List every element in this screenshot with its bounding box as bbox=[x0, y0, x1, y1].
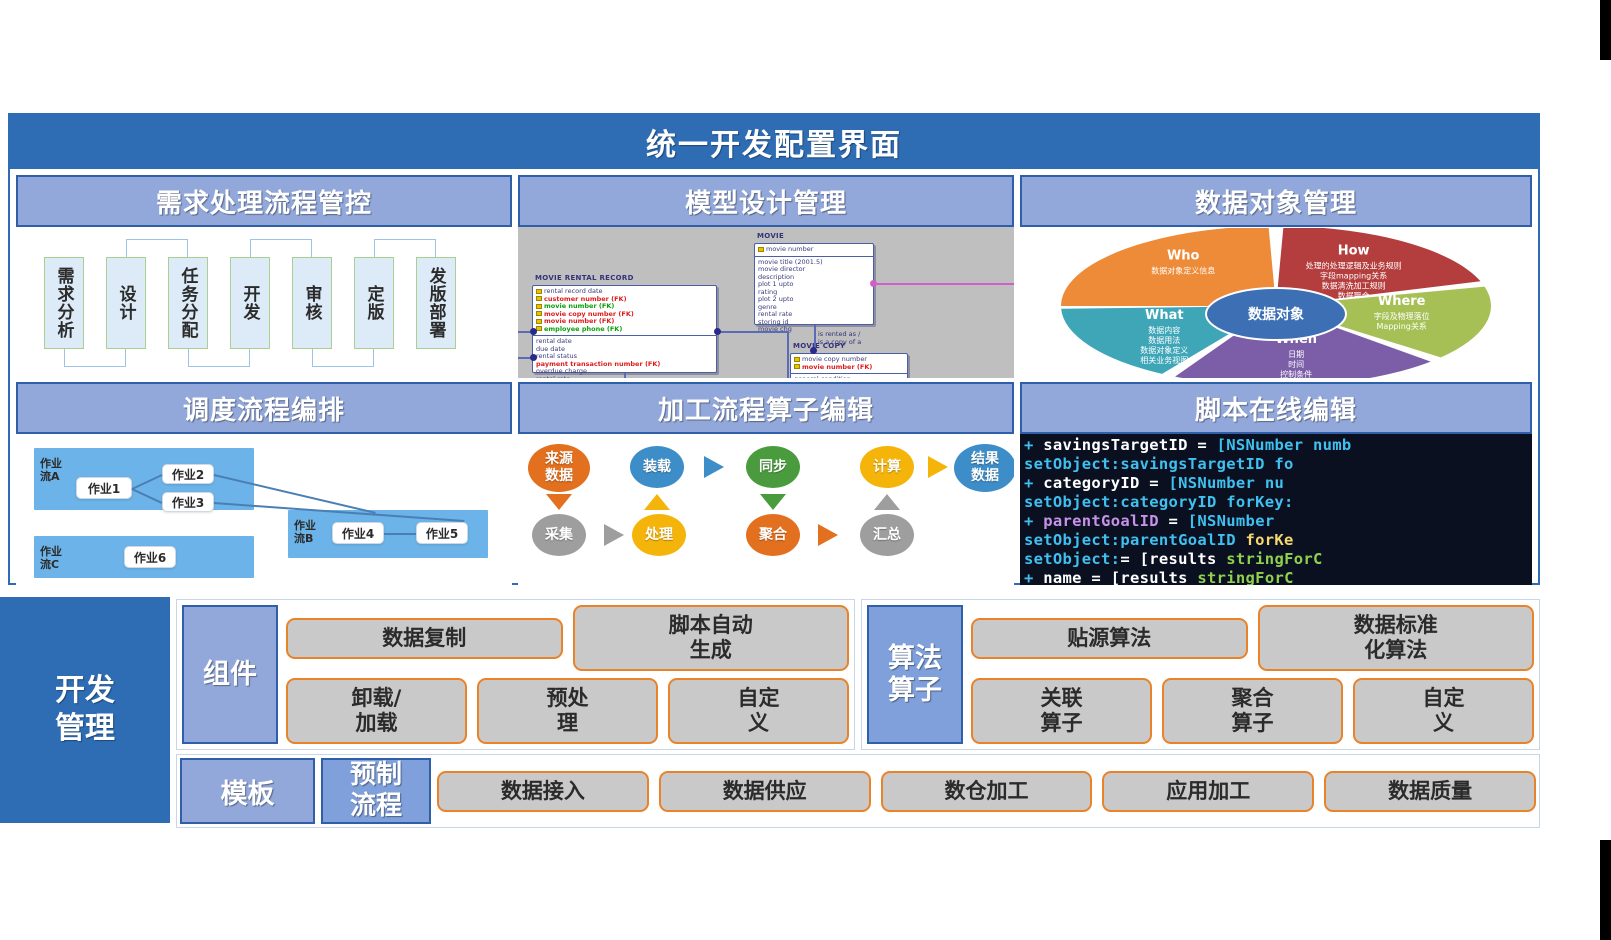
panel-dataobject-header: 数据对象管理 bbox=[1020, 175, 1532, 227]
dev-chip[interactable]: 数据标准化算法 bbox=[1258, 605, 1535, 671]
code-token: + bbox=[1024, 474, 1043, 492]
requirement-connector-up-2 bbox=[250, 239, 312, 257]
code-token: = bbox=[1159, 512, 1188, 530]
preflow-group-label: 预制流程 bbox=[321, 758, 431, 824]
code-token: [NSNumber numb bbox=[1217, 436, 1352, 454]
template-group-label: 模板 bbox=[180, 758, 315, 824]
code-line: + savingsTargetID = [NSNumber numb bbox=[1024, 436, 1532, 455]
dev-group-label[interactable]: 组件 bbox=[182, 605, 278, 744]
pie-chart-svg: Who数据对象定义信息How处理的处理逻辑及业务规则字段mapping关系数据清… bbox=[1041, 228, 1511, 378]
panel-model[interactable]: 模型设计管理 MOVIE RENTAL RECORDrental record … bbox=[518, 175, 1014, 378]
dev-chip[interactable]: 自定义 bbox=[668, 678, 849, 744]
dev-chip[interactable]: 贴源算法 bbox=[971, 618, 1248, 659]
operator-flow-diagram[interactable]: 来源数据装载同步计算结果数据采集处理聚合汇总 bbox=[518, 434, 1014, 585]
requirement-step-2[interactable]: 设计 bbox=[106, 257, 146, 349]
panel-requirement[interactable]: 需求处理流程管控 需求分析设计任务分配开发审核定版发版部署 bbox=[16, 175, 512, 378]
pie-segment-key-how: How bbox=[1338, 243, 1370, 258]
er-entity-3[interactable]: MOVIE COPYmovie copy numbermovie number … bbox=[790, 353, 908, 378]
panel-script[interactable]: 脚本在线编辑 + savingsTargetID = [NSNumber num… bbox=[1020, 382, 1532, 585]
dev-chip[interactable]: 自定义 bbox=[1353, 678, 1534, 744]
code-token: [NSNumber bbox=[1188, 512, 1275, 530]
operator-node-2[interactable]: 装载 bbox=[630, 446, 684, 488]
panel-model-body: MOVIE RENTAL RECORDrental record datecus… bbox=[518, 227, 1014, 378]
job-node[interactable]: 作业2 bbox=[162, 464, 214, 484]
key-icon bbox=[536, 289, 542, 294]
preflow-chip-row: 数据接入数据供应数仓加工应用加工数据质量 bbox=[437, 771, 1536, 812]
code-token: = bbox=[1140, 474, 1169, 492]
panel-row-1: 需求处理流程管控 需求分析设计任务分配开发审核定版发版部署 模型设计管理 MOV… bbox=[16, 175, 1532, 378]
code-line: setObject:savingsTargetID fo bbox=[1024, 455, 1532, 474]
panel-script-body: + savingsTargetID = [NSNumber numbsetObj… bbox=[1020, 434, 1532, 585]
requirement-connector-down-2 bbox=[188, 349, 250, 367]
arrow-load-to-sync bbox=[704, 456, 724, 478]
preflow-chip[interactable]: 数据质量 bbox=[1324, 771, 1536, 812]
code-token: parentGoalID bbox=[1043, 512, 1159, 530]
dev-chip[interactable]: 聚合算子 bbox=[1162, 678, 1343, 744]
job-node[interactable]: 作业6 bbox=[124, 546, 176, 568]
er-entity-keys: rental record datecustomer number (FK)mo… bbox=[533, 286, 716, 336]
panel-schedule[interactable]: 调度流程编排 作业流A作业1作业2作业3作业流B作业4作业5作业流C作业6 bbox=[16, 382, 512, 585]
schedule-flow-diagram[interactable]: 作业流A作业1作业2作业3作业流B作业4作业5作业流C作业6 bbox=[16, 434, 512, 585]
operator-node-1[interactable]: 来源数据 bbox=[528, 444, 590, 492]
er-relationship-endpoint bbox=[714, 328, 721, 335]
page-edge-top bbox=[1600, 0, 1611, 60]
dev-group-chips: 贴源算法数据标准化算法关联算子聚合算子自定义 bbox=[971, 605, 1534, 744]
pie-segment-detail: 字段mapping关系 bbox=[1320, 270, 1387, 280]
code-line: + parentGoalID = [NSNumber bbox=[1024, 512, 1532, 531]
panel-requirement-body: 需求分析设计任务分配开发审核定版发版部署 bbox=[16, 227, 512, 378]
key-icon bbox=[536, 319, 542, 324]
panel-dataobject-body: Who数据对象定义信息How处理的处理逻辑及业务规则字段mapping关系数据清… bbox=[1020, 227, 1532, 378]
code-token: setObject:categoryID forKey: bbox=[1024, 493, 1294, 511]
pie-segment-detail: Mapping关系 bbox=[1377, 321, 1427, 331]
key-icon bbox=[794, 357, 800, 362]
pie-segment-detail: 数据清洗加工规则 bbox=[1322, 280, 1386, 290]
er-diagram[interactable]: MOVIE RENTAL RECORDrental record datecus… bbox=[518, 227, 1014, 378]
pie-segment-detail: 时间 bbox=[1288, 358, 1304, 368]
key-icon bbox=[758, 247, 764, 252]
operator-node-6[interactable]: 采集 bbox=[532, 514, 586, 556]
arrow-aggregate-to-summary bbox=[818, 524, 838, 546]
code-token: + bbox=[1024, 436, 1043, 454]
dev-chip[interactable]: 数据复制 bbox=[286, 618, 563, 659]
code-token: forKe bbox=[1246, 531, 1294, 549]
dev-management-sidebar-label: 开发管理 bbox=[0, 597, 170, 823]
arrow-sync-to-aggregate bbox=[760, 494, 786, 510]
er-relationship-line bbox=[717, 331, 789, 333]
code-token: + bbox=[1024, 569, 1043, 585]
code-token: = [results bbox=[1120, 550, 1226, 568]
er-key-line: movie number bbox=[758, 246, 870, 254]
dev-chip-row: 卸载/加载预处理自定义 bbox=[286, 678, 849, 744]
er-entity-keys: movie number bbox=[755, 244, 873, 257]
er-entity-2[interactable]: MOVIEmovie numbermovie title (2001.5)mov… bbox=[754, 243, 874, 325]
operator-node-9[interactable]: 汇总 bbox=[860, 514, 914, 556]
pie-segment-detail: 数据用法 bbox=[1148, 334, 1180, 344]
dev-chip-row: 贴源算法数据标准化算法 bbox=[971, 605, 1534, 671]
panel-schedule-header: 调度流程编排 bbox=[16, 382, 512, 434]
job-node[interactable]: 作业1 bbox=[76, 477, 132, 499]
template-row: 模板 预制流程 数据接入数据供应数仓加工应用加工数据质量 bbox=[176, 754, 1540, 828]
code-token: [NSNumber nu bbox=[1169, 474, 1285, 492]
requirement-connector-down-3 bbox=[312, 349, 374, 367]
code-token: setObject:savingsTargetID fo bbox=[1024, 455, 1294, 473]
pie-segment-detail: 控制条件 bbox=[1280, 368, 1312, 377]
key-icon bbox=[536, 296, 542, 301]
panel-operator[interactable]: 加工流程算子编辑 来源数据装载同步计算结果数据采集处理聚合汇总 bbox=[518, 382, 1014, 585]
er-entity-attributes: movie title (2001.5)movie directordescri… bbox=[755, 257, 873, 336]
panel-grid: 需求处理流程管控 需求分析设计任务分配开发审核定版发版部署 模型设计管理 MOV… bbox=[10, 169, 1538, 583]
pie-segment-detail: 数据对象定义 bbox=[1140, 344, 1188, 354]
er-entity-attributes: general conditionmovie format bbox=[791, 374, 907, 378]
code-token: stringForC bbox=[1197, 569, 1293, 585]
arrow-process-to-load bbox=[644, 494, 670, 510]
key-icon bbox=[536, 304, 542, 309]
dev-group-chips: 数据复制脚本自动生成卸载/加载预处理自定义 bbox=[286, 605, 849, 744]
code-token: + bbox=[1024, 512, 1043, 530]
requirement-step-6[interactable]: 定版 bbox=[354, 257, 394, 349]
requirement-step-5[interactable]: 审核 bbox=[292, 257, 332, 349]
pie-center-label: 数据对象 bbox=[1248, 306, 1304, 323]
code-token: = bbox=[1188, 436, 1217, 454]
requirement-step-4[interactable]: 开发 bbox=[230, 257, 270, 349]
code-line: setObject:parentGoalID forKe bbox=[1024, 531, 1532, 550]
er-relationship-endpoint bbox=[810, 347, 817, 354]
job-flow-lane-label: 作业流A bbox=[40, 457, 62, 483]
job-flow-lane-1[interactable]: 作业流A作业1作业2作业3 bbox=[34, 448, 254, 510]
er-entity-attributes: rental datedue daterental statuspayment … bbox=[533, 336, 716, 378]
arrow-source-to-collect bbox=[546, 494, 572, 510]
dev-group-label[interactable]: 算法算子 bbox=[867, 605, 963, 744]
er-relationship-line bbox=[874, 283, 1014, 285]
dev-chip[interactable]: 关联算子 bbox=[971, 678, 1152, 744]
preflow-chip-list: 数据接入数据供应数仓加工应用加工数据质量 bbox=[437, 758, 1536, 824]
panel-operator-header: 加工流程算子编辑 bbox=[518, 382, 1014, 434]
code-token: savingsTargetID bbox=[1043, 436, 1187, 454]
panel-dataobject[interactable]: 数据对象管理 Who数据对象定义信息How处理的处理逻辑及业务规则字段mappi… bbox=[1020, 175, 1532, 378]
pie-segment-detail: 数据对象定义信息 bbox=[1151, 265, 1215, 275]
er-relationship-line bbox=[624, 373, 626, 378]
er-key-line: employee phone (FK) bbox=[536, 326, 713, 334]
er-relationship-endpoint bbox=[530, 354, 537, 361]
operator-node-8[interactable]: 聚合 bbox=[746, 514, 800, 556]
job-node[interactable]: 作业4 bbox=[332, 522, 384, 544]
job-node[interactable]: 作业5 bbox=[416, 522, 468, 544]
operator-node-7[interactable]: 处理 bbox=[632, 514, 686, 556]
code-line: + name = [results stringForC bbox=[1024, 569, 1532, 585]
arrow-calc-to-result bbox=[928, 456, 948, 478]
requirement-connector-up-1 bbox=[126, 239, 188, 257]
pie-segment-key-who: Who bbox=[1167, 248, 1200, 263]
panel-script-header: 脚本在线编辑 bbox=[1020, 382, 1532, 434]
requirement-step-7[interactable]: 发版部署 bbox=[416, 257, 456, 349]
pie-segment-key-what: What bbox=[1145, 307, 1184, 322]
job-link-4-5 bbox=[384, 533, 416, 535]
requirement-connector-up-3 bbox=[374, 239, 436, 257]
preflow-chip[interactable]: 数据供应 bbox=[659, 771, 871, 812]
pie-segment-detail: 数据内容 bbox=[1148, 324, 1180, 334]
panel-requirement-header: 需求处理流程管控 bbox=[16, 175, 512, 227]
code-token: [results bbox=[1111, 569, 1198, 585]
app-frame: 统一开发配置界面 需求处理流程管控 需求分析设计任务分配开发审核定版发版部署 模… bbox=[8, 113, 1540, 585]
code-line: setObject:categoryID forKey: bbox=[1024, 493, 1532, 512]
key-icon bbox=[536, 311, 542, 316]
panel-schedule-body: 作业流A作业1作业2作业3作业流B作业4作业5作业流C作业6 bbox=[16, 434, 512, 585]
er-key-line: movie number (FK) bbox=[794, 364, 904, 372]
code-token: = bbox=[1082, 569, 1111, 585]
dev-chip[interactable]: 预处理 bbox=[477, 678, 658, 744]
code-token: setObject: bbox=[1024, 550, 1120, 568]
job-node[interactable]: 作业3 bbox=[162, 492, 214, 512]
job-flow-lane-label: 作业流C bbox=[40, 545, 62, 571]
requirement-flow-diagram[interactable]: 需求分析设计任务分配开发审核定版发版部署 bbox=[16, 227, 512, 378]
dev-chip-row: 数据复制脚本自动生成 bbox=[286, 605, 849, 671]
arrow-summary-to-calc bbox=[874, 494, 900, 510]
pie-segment-key-where: Where bbox=[1378, 294, 1426, 309]
data-object-pie-chart[interactable]: Who数据对象定义信息How处理的处理逻辑及业务规则字段mapping关系数据清… bbox=[1020, 227, 1532, 378]
dev-management-section: 开发管理 组件数据复制脚本自动生成卸载/加载预处理自定义算法算子贴源算法数据标准… bbox=[0, 597, 1540, 823]
er-entity-1[interactable]: MOVIE RENTAL RECORDrental record datecus… bbox=[532, 285, 717, 373]
key-icon bbox=[794, 364, 800, 369]
pie-segment-detail: 相关业务视图 bbox=[1140, 354, 1188, 364]
arrow-collect-to-process bbox=[604, 524, 624, 546]
dev-group-2: 算法算子贴源算法数据标准化算法关联算子聚合算子自定义 bbox=[861, 599, 1540, 750]
er-entity-title: MOVIE bbox=[757, 232, 784, 240]
page-edge-bottom bbox=[1600, 840, 1611, 940]
requirement-connector-down-1 bbox=[64, 349, 126, 367]
er-attr-line: general condition bbox=[794, 376, 904, 378]
operator-node-3[interactable]: 同步 bbox=[746, 446, 800, 488]
requirement-step-1[interactable]: 需求分析 bbox=[44, 257, 84, 349]
dev-chip[interactable]: 脚本自动生成 bbox=[573, 605, 850, 671]
preflow-chip[interactable]: 应用加工 bbox=[1102, 771, 1314, 812]
page-title: 统一开发配置界面 bbox=[10, 115, 1538, 169]
er-entity-title: MOVIE RENTAL RECORD bbox=[535, 274, 634, 282]
pie-segment-detail: 日期 bbox=[1288, 349, 1304, 358]
job-flow-lane-label: 作业流B bbox=[294, 519, 316, 545]
pie-segment-detail: 字段及物理落位 bbox=[1374, 311, 1430, 321]
dev-chip[interactable]: 卸载/加载 bbox=[286, 678, 467, 744]
code-token: name bbox=[1043, 569, 1082, 585]
operator-node-5[interactable]: 结果数据 bbox=[954, 444, 1014, 492]
er-relationship-label: is rented as /is a copy of a bbox=[818, 330, 861, 346]
er-relationship-endpoint bbox=[530, 328, 537, 335]
dev-groups-row: 组件数据复制脚本自动生成卸载/加载预处理自定义算法算子贴源算法数据标准化算法关联… bbox=[176, 599, 1540, 750]
screenshot-root: 统一开发配置界面 需求处理流程管控 需求分析设计任务分配开发审核定版发版部署 模… bbox=[0, 0, 1611, 940]
panel-row-2: 调度流程编排 作业流A作业1作业2作业3作业流B作业4作业5作业流C作业6 加工… bbox=[16, 382, 1532, 585]
panel-model-header: 模型设计管理 bbox=[518, 175, 1014, 227]
code-token: categoryID bbox=[1043, 474, 1139, 492]
code-line: + categoryID = [NSNumber nu bbox=[1024, 474, 1532, 493]
preflow-chip[interactable]: 数仓加工 bbox=[881, 771, 1093, 812]
dev-group-1: 组件数据复制脚本自动生成卸载/加载预处理自定义 bbox=[176, 599, 855, 750]
code-line: setObject:= [results stringForC bbox=[1024, 550, 1532, 569]
job-flow-lane-3[interactable]: 作业流C作业6 bbox=[34, 536, 254, 578]
operator-node-4[interactable]: 计算 bbox=[860, 446, 914, 488]
code-token: setObject:parentGoalID bbox=[1024, 531, 1246, 549]
dev-chip-row: 关联算子聚合算子自定义 bbox=[971, 678, 1534, 744]
er-relationship-endpoint bbox=[870, 280, 877, 287]
preflow-chip[interactable]: 数据接入 bbox=[437, 771, 649, 812]
er-entity-keys: movie copy numbermovie number (FK) bbox=[791, 354, 907, 374]
code-token: stringForC bbox=[1226, 550, 1322, 568]
er-relationship-line bbox=[787, 331, 789, 378]
dev-management-content: 组件数据复制脚本自动生成卸载/加载预处理自定义算法算子贴源算法数据标准化算法关联… bbox=[170, 597, 1540, 823]
pie-segment-detail: 处理的处理逻辑及业务规则 bbox=[1306, 260, 1402, 270]
requirement-step-3[interactable]: 任务分配 bbox=[168, 257, 208, 349]
code-editor[interactable]: + savingsTargetID = [NSNumber numbsetObj… bbox=[1020, 434, 1532, 585]
panel-operator-body: 来源数据装载同步计算结果数据采集处理聚合汇总 bbox=[518, 434, 1014, 585]
